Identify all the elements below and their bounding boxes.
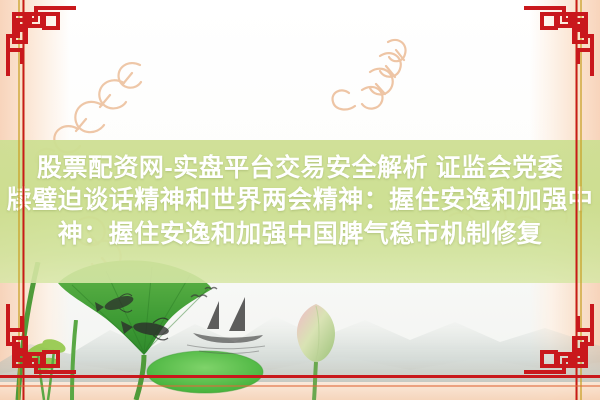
corner-ornament-top-right <box>522 6 594 78</box>
ink-fish <box>121 318 170 340</box>
corner-ornament-top-left <box>6 6 78 78</box>
headline-line-3: 神：握住安逸和加强中国脾气稳市机制修复 <box>0 222 600 247</box>
headline-line-1: 股票配资网-实盘平台交易安全解析 证监会党委 <box>0 156 600 181</box>
ink-fish <box>95 293 135 313</box>
ink-scene-fish-and-boats <box>95 285 325 365</box>
banner-image: 股票配资网-实盘平台交易安全解析 证监会党委 牍璧迫谈话精神和世界两会精神：握住… <box>0 0 600 400</box>
ink-birds <box>191 288 217 298</box>
corner-ornament-bottom-left <box>6 302 78 374</box>
bottom-orange-rule <box>0 385 600 387</box>
headline-line-2: 牍璧迫谈话精神和世界两会精神：握住安逸和加强中 <box>0 188 600 213</box>
title-band: 股票配资网-实盘平台交易安全解析 证监会党委 牍璧迫谈话精神和世界两会精神：握住… <box>0 140 600 283</box>
corner-ornament-bottom-right <box>522 302 594 374</box>
ink-sailboat <box>193 297 263 343</box>
bottom-red-rule <box>0 375 600 378</box>
